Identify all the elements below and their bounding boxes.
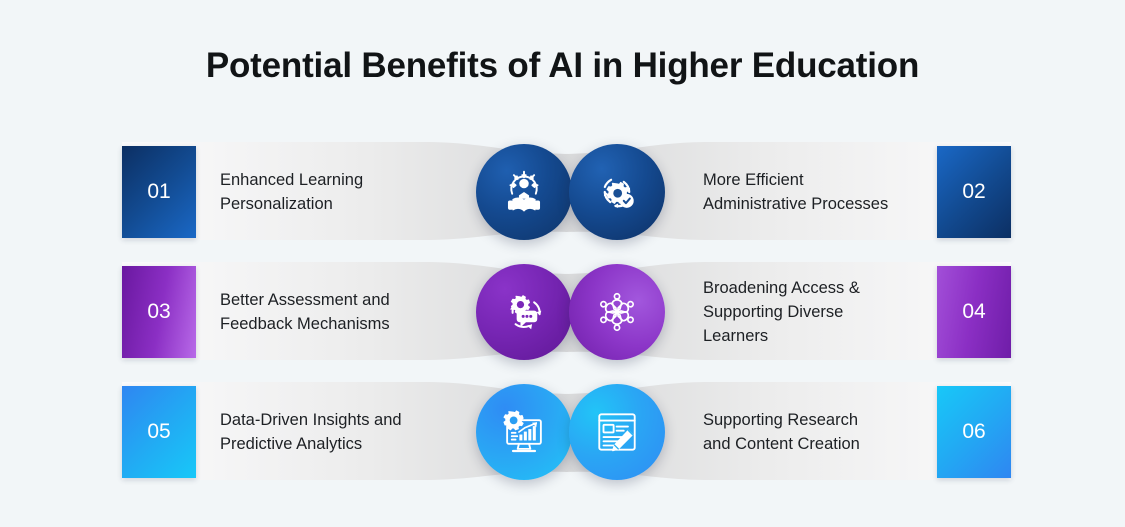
benefit-number-05: 05 (122, 386, 196, 478)
document-pencil-icon[interactable] (569, 384, 665, 480)
gear-check-refresh-icon[interactable] (569, 144, 665, 240)
benefit-number-02: 02 (937, 146, 1011, 238)
label-line-1: Enhanced Learning (220, 168, 470, 192)
benefit-item-04[interactable]: 04 Broadening Access & Supporting Divers… (565, 262, 1011, 362)
benefit-item-05[interactable]: 05 Data-Driven Insights and Predictive A… (122, 382, 568, 482)
label-line-2: and Content Creation (703, 432, 963, 456)
benefit-label-01: Enhanced Learning Personalization (220, 142, 470, 242)
benefit-label-04: Broadening Access & Supporting Diverse L… (703, 262, 963, 362)
label-line-2: Administrative Processes (703, 192, 963, 216)
benefit-item-01[interactable]: 01 Enhanced Learning Personalization (122, 142, 568, 242)
benefit-label-05: Data-Driven Insights and Predictive Anal… (220, 382, 470, 482)
benefit-number-03: 03 (122, 266, 196, 358)
benefit-item-02[interactable]: 02 More Efficient Administrative Process… (565, 142, 1011, 242)
benefit-number-04: 04 (937, 266, 1011, 358)
benefits-row-1: 01 Enhanced Learning Personalization (0, 142, 1125, 242)
benefit-number-text: 06 (962, 420, 985, 444)
page-title: Potential Benefits of AI in Higher Educa… (0, 46, 1125, 86)
label-line-3: Learners (703, 324, 963, 348)
benefits-row-2: 03 Better Assessment and Feedback Mechan… (0, 262, 1125, 362)
label-line-1: Broadening Access & (703, 276, 963, 300)
label-line-2: Predictive Analytics (220, 432, 470, 456)
label-line-1: Data-Driven Insights and (220, 408, 470, 432)
benefit-label-02: More Efficient Administrative Processes (703, 142, 963, 242)
benefits-row-3: 05 Data-Driven Insights and Predictive A… (0, 382, 1125, 482)
label-line-1: Better Assessment and (220, 288, 470, 312)
benefit-number-text: 02 (962, 180, 985, 204)
chat-bubble-gear-icon[interactable] (476, 264, 572, 360)
label-line-2: Feedback Mechanisms (220, 312, 470, 336)
benefit-number-text: 05 (147, 420, 170, 444)
benefit-item-06[interactable]: 06 Supporting Research and Content Creat… (565, 382, 1011, 482)
label-line-2: Supporting Diverse (703, 300, 963, 324)
benefit-label-03: Better Assessment and Feedback Mechanism… (220, 262, 470, 362)
benefit-number-text: 04 (962, 300, 985, 324)
monitor-bar-chart-gear-icon[interactable] (476, 384, 572, 480)
benefit-item-03[interactable]: 03 Better Assessment and Feedback Mechan… (122, 262, 568, 362)
people-network-circle-icon[interactable] (569, 264, 665, 360)
label-line-2: Personalization (220, 192, 470, 216)
label-line-1: More Efficient (703, 168, 963, 192)
benefit-number-06: 06 (937, 386, 1011, 478)
benefit-number-text: 03 (147, 300, 170, 324)
label-line-1: Supporting Research (703, 408, 963, 432)
benefits-list: 01 Enhanced Learning Personalization (0, 142, 1125, 502)
benefit-number-text: 01 (147, 180, 170, 204)
person-reading-book-icon[interactable] (476, 144, 572, 240)
benefit-number-01: 01 (122, 146, 196, 238)
benefit-label-06: Supporting Research and Content Creation (703, 382, 963, 482)
